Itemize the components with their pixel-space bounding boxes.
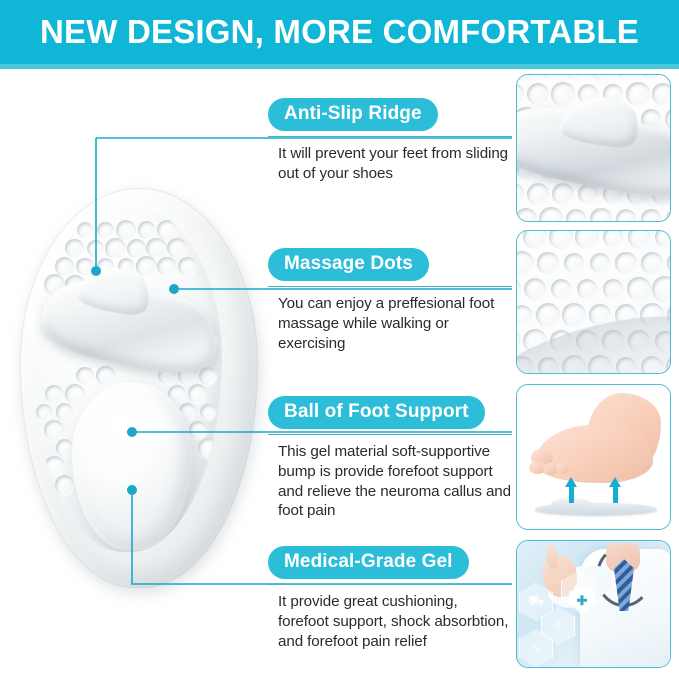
- callout-massage-dots: Massage Dots You can enjoy a preffesiona…: [268, 248, 512, 353]
- massage-dot: [615, 252, 636, 273]
- header-banner: NEW DESIGN, MORE COMFORTABLE: [0, 0, 679, 64]
- massage-dot: [96, 366, 114, 384]
- massage-dot: [551, 279, 572, 300]
- massage-dot: [616, 75, 637, 79]
- description-ball-of-foot-support: This gel material soft-supportive bump i…: [268, 442, 512, 521]
- massage-dot: [517, 183, 524, 204]
- massage-dot: [65, 384, 85, 404]
- massage-dot: [591, 75, 612, 80]
- massage-dot: [652, 276, 670, 301]
- massage-dot: [667, 252, 670, 273]
- badge-massage-dots: Massage Dots: [268, 248, 429, 281]
- massage-dot: [517, 329, 521, 352]
- massage-dot: [523, 231, 548, 249]
- description-anti-slip-ridge: It will prevent your feet from sliding o…: [268, 144, 512, 184]
- badge-medical-grade-gel: Medical-Grade Gel: [268, 546, 469, 579]
- badge-rule: [268, 136, 512, 137]
- massage-dot: [157, 220, 176, 239]
- product-image: [8, 178, 270, 598]
- massage-dot: [627, 277, 650, 300]
- badge-anti-slip-ridge: Anti-Slip Ridge: [268, 98, 438, 131]
- massage-dot: [65, 239, 84, 258]
- massage-dot: [641, 75, 661, 79]
- massage-dot: [536, 303, 560, 327]
- massage-dot: [565, 75, 588, 80]
- thumb-anti-slip-ridge: [516, 74, 671, 222]
- massage-dot: [539, 207, 562, 221]
- description-massage-dots: You can enjoy a preffesional foot massag…: [268, 294, 512, 353]
- massage-dot: [524, 278, 547, 301]
- massage-dot: [552, 183, 574, 205]
- massage-dot: [575, 231, 598, 249]
- massage-dot: [56, 439, 74, 457]
- massage-dot: [55, 475, 75, 495]
- support-arrow-right: [609, 477, 622, 503]
- massage-dot: [200, 404, 217, 421]
- massage-dot: [551, 82, 574, 105]
- thumb-medical-grade-gel: ⛟ ⚛ ∿ ⚙ ✚: [516, 540, 671, 668]
- massage-dot: [198, 438, 218, 458]
- massage-dot: [564, 253, 585, 274]
- massage-dot: [562, 303, 585, 326]
- thumb-massage-dots: [516, 230, 671, 374]
- massage-dot: [189, 421, 207, 439]
- massage-dot: [167, 238, 187, 258]
- gel-pad-surface: [32, 204, 222, 552]
- massage-dot: [655, 231, 670, 247]
- massage-dot: [105, 238, 126, 259]
- massage-dot: [87, 240, 104, 257]
- massage-dot: [626, 82, 649, 105]
- massage-dot: [76, 258, 93, 275]
- massage-dot: [666, 209, 670, 221]
- thumb-ball-of-foot-support: [516, 384, 671, 530]
- badge-ball-of-foot-support: Ball of Foot Support: [268, 396, 485, 429]
- massage-dot: [616, 209, 637, 221]
- infographic-page: NEW DESIGN, MORE COMFORTABLE Anti-Sli: [0, 0, 679, 674]
- description-medical-grade-gel: It provide great cushioning, forefoot su…: [268, 592, 512, 651]
- massage-dot: [136, 256, 156, 276]
- massage-dot: [641, 209, 662, 221]
- massage-dot: [641, 252, 663, 274]
- massage-dot: [44, 420, 64, 440]
- callout-anti-slip-ridge: Anti-Slip Ridge It will prevent your fee…: [268, 98, 512, 184]
- massage-dot: [517, 305, 532, 325]
- badge-rule: [268, 584, 512, 585]
- massage-dot: [76, 367, 93, 384]
- massage-dot: [97, 222, 114, 239]
- massage-dot: [188, 384, 207, 403]
- badge-rule: [268, 434, 512, 435]
- massage-dot: [665, 108, 670, 130]
- massage-dot: [664, 75, 670, 81]
- massage-dot: [77, 222, 94, 239]
- massage-dot: [541, 75, 560, 79]
- header-accent-strip: [0, 64, 679, 69]
- massage-dot: [517, 251, 534, 275]
- massage-dot: [517, 208, 537, 221]
- massage-dot: [527, 83, 550, 106]
- support-arrow-left: [565, 477, 578, 503]
- massage-dot: [566, 209, 587, 221]
- massage-dot: [590, 253, 610, 273]
- badge-rule: [268, 286, 512, 287]
- massage-dot: [157, 257, 177, 277]
- massage-dot: [56, 403, 74, 421]
- massage-dot: [603, 231, 623, 247]
- massage-dot: [517, 75, 538, 81]
- foot-illustration: [529, 397, 665, 489]
- toe-fourth: [556, 463, 569, 474]
- massage-dot: [603, 279, 624, 300]
- massage-dot: [138, 221, 155, 238]
- massage-dot: [45, 385, 63, 403]
- callout-ball-of-foot-support: Ball of Foot Support This gel material s…: [268, 396, 512, 521]
- callout-medical-grade-gel: Medical-Grade Gel It provide great cushi…: [268, 546, 512, 651]
- massage-dot: [36, 404, 53, 421]
- massage-dot: [590, 208, 611, 221]
- page-title: NEW DESIGN, MORE COMFORTABLE: [40, 13, 639, 51]
- massage-dot: [127, 239, 146, 258]
- massage-dot: [549, 231, 573, 249]
- massage-dot: [527, 183, 549, 205]
- massage-dot: [178, 257, 197, 276]
- massage-dot: [628, 231, 649, 248]
- massage-dot: [199, 367, 217, 385]
- massage-dot: [577, 279, 598, 300]
- massage-dot: [517, 277, 521, 300]
- massage-dot: [537, 252, 558, 273]
- massage-dot: [55, 257, 74, 276]
- massage-dot: [116, 220, 137, 241]
- massage-dot: [652, 83, 670, 105]
- massage-dot: [517, 83, 524, 106]
- massage-dot: [44, 456, 65, 477]
